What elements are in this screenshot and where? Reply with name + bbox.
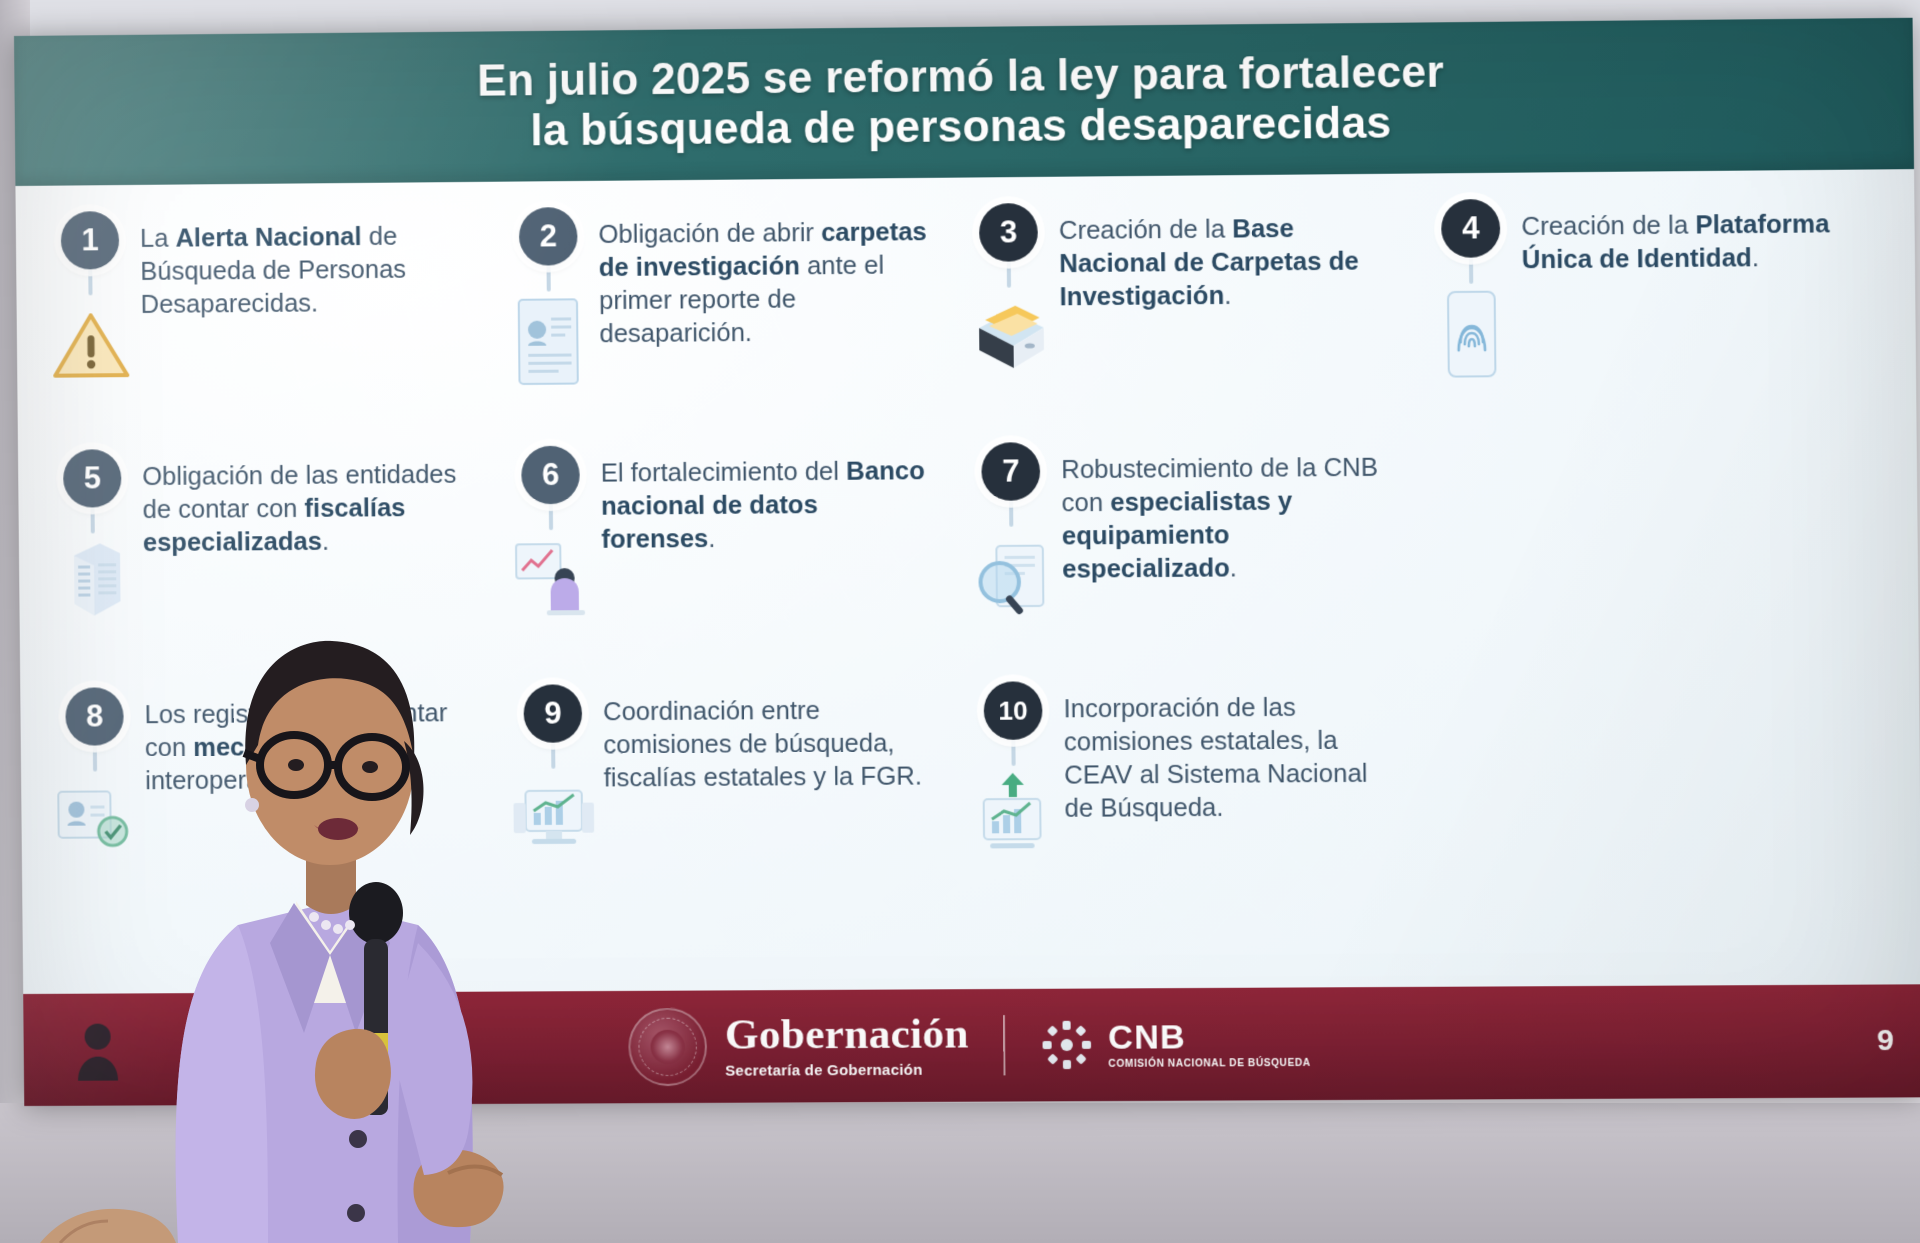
item-text: Coordinación entre comisiones de búsqued… xyxy=(593,682,936,796)
list-item: 3 Creación de la Base N xyxy=(968,200,1418,435)
person-record-icon xyxy=(49,775,142,868)
badge-column: 4 xyxy=(1430,199,1513,381)
item-number-badge: 6 xyxy=(521,446,580,505)
magnifier-icon xyxy=(965,530,1059,623)
item-number-badge: 2 xyxy=(519,207,578,266)
cnb-logo-icon xyxy=(1039,1018,1094,1073)
mexican-national-seal-icon xyxy=(628,1008,707,1087)
item-text: El fortalecimiento del Banco nacional de… xyxy=(590,443,933,557)
item-text-tail: interoperabilidad. xyxy=(145,766,341,795)
item-text: La Alerta Nacional de Búsqueda de Person… xyxy=(130,208,472,322)
item-number-badge: 10 xyxy=(984,681,1043,740)
list-item: 8 Los re xyxy=(54,685,500,918)
list-item: 1 La Alerta Nacional de Búsqueda de Pers… xyxy=(50,208,496,442)
lab-analyst-icon xyxy=(505,534,598,627)
item-text-lead: Coordinación entre comisiones de búsqued… xyxy=(603,697,922,793)
item-text-bold: mecanismos de xyxy=(193,733,385,762)
gobernacion-brand: Gobernación Secretaría de Gobernación xyxy=(628,1006,969,1086)
numbered-items-grid: 1 La Alerta Nacional de Búsqueda de Pers… xyxy=(50,196,1887,918)
badge-column: 10 xyxy=(972,681,1054,862)
item-number-badge: 5 xyxy=(63,449,122,507)
item-number-badge: 4 xyxy=(1441,199,1500,258)
seal-ring xyxy=(638,1018,697,1076)
building-icon xyxy=(47,537,140,630)
item-number-badge: 8 xyxy=(65,687,124,745)
list-item: 9 xyxy=(512,682,960,915)
connector-stem xyxy=(1011,736,1015,766)
list-item: 5 xyxy=(52,446,498,679)
list-item: 6 El fortalecimiento del Banco naciona xyxy=(510,443,958,677)
slide-title: En julio 2025 se reformó la ley para for… xyxy=(417,47,1506,158)
badge-column: 8 xyxy=(54,687,136,868)
connector-stem xyxy=(1469,254,1473,284)
connector-stem xyxy=(549,500,553,530)
item-text: Creación de la Base Nacional de Carpetas… xyxy=(1049,200,1394,315)
item-text-lead: Incorporación de las comisiones estatale… xyxy=(1063,694,1367,824)
room-floor xyxy=(0,1103,1920,1243)
item-text-lead: Obligación de abrir xyxy=(598,219,821,249)
slide-body: 1 La Alerta Nacional de Búsqueda de Pers… xyxy=(15,169,1920,1106)
connector-stem xyxy=(1009,497,1013,527)
list-item: 10 xyxy=(972,679,1422,913)
item-number-badge: 7 xyxy=(981,442,1040,501)
connector-stem xyxy=(551,739,555,769)
fingerprint-phone-icon xyxy=(1425,287,1519,380)
monitor-chart-icon xyxy=(507,772,600,865)
badge-column: 9 xyxy=(512,684,594,865)
cnb-subtitle: COMISIÓN NACIONAL DE BÚSQUEDA xyxy=(1108,1057,1310,1069)
item-number-badge: 1 xyxy=(61,211,120,270)
slide-title-line-2: la búsqueda de personas desaparecidas xyxy=(478,98,1445,157)
item-text-lead: Creación de la xyxy=(1059,215,1233,245)
item-text-lead: Creación de la xyxy=(1521,211,1695,241)
item-text-lead: El fortalecimiento del xyxy=(601,458,847,488)
connector-stem xyxy=(88,265,92,295)
connector-stem xyxy=(1007,258,1011,288)
item-text: Incorporación de las comisiones estatale… xyxy=(1053,679,1398,827)
badge-column: 1 xyxy=(50,211,132,392)
badge-column: 6 xyxy=(510,446,592,627)
file-drawer-icon xyxy=(963,291,1057,384)
item-text-tail: . xyxy=(708,525,715,553)
list-item: 7 Robustecimiento de la xyxy=(970,439,1420,673)
empty-cell xyxy=(1432,436,1884,671)
slide-title-line-1: En julio 2025 se reformó la ley para for… xyxy=(477,47,1444,106)
empty-cell xyxy=(1435,676,1887,910)
item-text-tail: . xyxy=(1230,555,1237,583)
badge-column: 2 xyxy=(508,207,590,388)
cnb-brand: CNB COMISIÓN NACIONAL DE BÚSQUEDA xyxy=(1039,1017,1310,1073)
connector-stem xyxy=(546,261,550,291)
slide-footer-bar: Gobernación Secretaría de Gobernación xyxy=(23,984,1920,1106)
item-text: Robustecimiento de la CNB con especialis… xyxy=(1051,439,1396,587)
cnb-text-block: CNB COMISIÓN NACIONAL DE BÚSQUEDA xyxy=(1108,1019,1311,1069)
badge-column: 5 xyxy=(52,449,134,630)
warning-triangle-icon xyxy=(45,299,138,392)
list-item: 2 xyxy=(508,204,956,438)
slide-page-number: 9 xyxy=(1877,1024,1894,1058)
cnb-title: CNB xyxy=(1108,1019,1311,1054)
item-text-tail: . xyxy=(1224,282,1231,310)
item-text-tail: . xyxy=(322,528,329,556)
item-text: Creación de la Plataforma Única de Ident… xyxy=(1511,196,1857,278)
connector-stem xyxy=(91,503,95,533)
item-number-badge: 3 xyxy=(979,203,1038,262)
badge-column: 3 xyxy=(968,203,1050,385)
item-text: Obligación de abrir carpetas de investig… xyxy=(588,204,932,352)
item-text-tail: . xyxy=(1752,244,1759,272)
audience-hand xyxy=(40,1173,220,1243)
brand-divider xyxy=(1003,1015,1006,1075)
gobernacion-title: Gobernación xyxy=(725,1012,969,1056)
gobernacion-subtitle: Secretaría de Gobernación xyxy=(725,1062,969,1080)
slide-header: En julio 2025 se reformó la ley para for… xyxy=(14,18,1914,186)
item-text: Obligación de las entidades de contar co… xyxy=(132,447,474,561)
item-text-lead: La xyxy=(140,225,176,253)
badge-column: 7 xyxy=(970,442,1052,623)
document-id-card-icon xyxy=(503,295,596,388)
upload-arrow-icon xyxy=(967,770,1061,863)
item-text-lead: Obligación de las entidades de contar co… xyxy=(142,461,456,525)
list-item: 4 xyxy=(1430,196,1882,431)
footer-watermark-icon xyxy=(63,1014,154,1084)
gobernacion-text-block: Gobernación Secretaría de Gobernación xyxy=(725,1012,970,1079)
connector-stem xyxy=(93,742,97,772)
presentation-slide: En julio 2025 se reformó la ley para for… xyxy=(14,18,1920,1106)
item-text-bold: Alerta Nacional xyxy=(175,223,361,253)
item-text: Los registros deben contar con mecanismo… xyxy=(134,685,476,799)
item-number-badge: 9 xyxy=(523,684,582,743)
